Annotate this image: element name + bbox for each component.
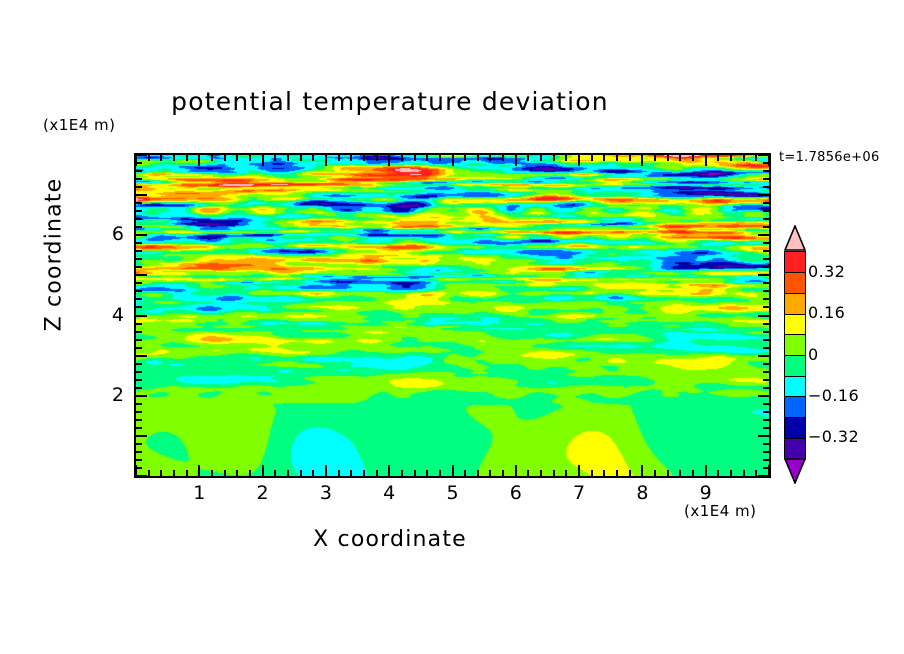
colorbar-band	[784, 292, 806, 314]
x-axis-unit-label: (x1E4 m)	[684, 502, 757, 520]
y-tick	[136, 403, 142, 405]
y-tick	[763, 226, 769, 228]
x-tick	[641, 155, 643, 166]
x-tick	[679, 470, 681, 476]
y-tick	[763, 306, 769, 308]
x-tick	[641, 465, 643, 476]
y-tick	[136, 186, 142, 188]
x-tick	[616, 470, 618, 476]
colorbar-tick-label: 0	[808, 345, 819, 364]
y-tick	[136, 202, 142, 204]
y-tick	[763, 411, 769, 413]
x-tick	[236, 470, 238, 476]
y-tick	[136, 154, 147, 156]
colorbar-band	[784, 272, 806, 294]
y-tick	[136, 467, 142, 469]
x-tick	[477, 470, 479, 476]
colorbar-band	[784, 355, 806, 377]
y-tick	[763, 451, 769, 453]
x-tick	[654, 470, 656, 476]
x-tick	[350, 155, 352, 161]
x-tick	[135, 155, 137, 166]
y-tick	[136, 411, 142, 413]
x-tick	[325, 465, 327, 476]
x-tick	[312, 470, 314, 476]
x-tick	[363, 470, 365, 476]
colorbar-band	[784, 396, 806, 418]
x-tick	[224, 470, 226, 476]
x-tick	[553, 470, 555, 476]
x-tick-label: 1	[184, 482, 214, 504]
y-tick	[136, 258, 142, 260]
x-tick	[186, 470, 188, 476]
x-tick	[363, 155, 365, 161]
x-tick	[477, 155, 479, 161]
y-tick	[758, 194, 769, 196]
y-tick	[136, 162, 142, 164]
y-axis-title: Z coordinate	[42, 175, 67, 335]
x-tick	[439, 155, 441, 161]
plot-area[interactable]	[134, 153, 771, 478]
x-tick	[325, 155, 327, 166]
x-tick	[692, 470, 694, 476]
x-tick	[730, 470, 732, 476]
y-tick	[136, 427, 142, 429]
x-tick	[489, 470, 491, 476]
y-tick	[763, 339, 769, 341]
x-tick	[565, 155, 567, 161]
x-tick	[287, 155, 289, 161]
x-tick	[439, 470, 441, 476]
x-tick	[768, 155, 770, 166]
y-tick	[136, 274, 147, 276]
x-tick	[249, 155, 251, 161]
y-tick	[136, 355, 147, 357]
colorbar-tick-label: 0.32	[808, 262, 845, 281]
x-tick	[502, 155, 504, 161]
y-tick	[763, 162, 769, 164]
y-tick	[763, 290, 769, 292]
x-tick	[452, 155, 454, 166]
colorbar-band	[784, 251, 806, 273]
x-tick-label: 2	[248, 482, 278, 504]
y-tick	[763, 363, 769, 365]
y-tick	[763, 202, 769, 204]
x-tick	[527, 155, 529, 161]
colorbar[interactable]: 0.320.160−0.16−0.32	[784, 225, 806, 484]
x-tick	[300, 470, 302, 476]
x-tick	[515, 155, 517, 166]
colorbar-tick-label: −0.32	[808, 427, 859, 446]
x-tick	[629, 155, 631, 161]
y-tick	[136, 371, 142, 373]
x-tick	[705, 155, 707, 166]
y-tick	[763, 419, 769, 421]
y-tick	[136, 266, 142, 268]
x-tick	[338, 155, 340, 161]
y-tick	[763, 250, 769, 252]
x-tick	[667, 470, 669, 476]
y-tick	[758, 355, 769, 357]
y-tick	[136, 459, 142, 461]
x-tick	[717, 155, 719, 161]
x-tick	[274, 155, 276, 161]
x-tick	[540, 470, 542, 476]
y-tick	[136, 226, 142, 228]
y-tick	[763, 242, 769, 244]
x-tick	[540, 155, 542, 161]
x-tick-label: 5	[438, 482, 468, 504]
x-tick	[401, 155, 403, 161]
x-tick	[717, 470, 719, 476]
y-tick	[136, 395, 147, 397]
x-tick	[667, 155, 669, 161]
y-tick	[763, 266, 769, 268]
x-tick	[262, 155, 264, 166]
x-tick	[401, 470, 403, 476]
y-tick	[763, 218, 769, 220]
x-tick	[338, 470, 340, 476]
y-tick	[136, 387, 142, 389]
x-tick	[730, 155, 732, 161]
x-tick	[262, 465, 264, 476]
page-title: potential temperature deviation	[0, 87, 780, 116]
x-tick	[388, 465, 390, 476]
x-tick-label: 3	[311, 482, 341, 504]
x-tick	[414, 155, 416, 161]
x-tick	[236, 155, 238, 161]
colorbar-tick-label: −0.16	[808, 386, 859, 405]
x-tick-label: 8	[627, 482, 657, 504]
x-tick	[211, 155, 213, 161]
x-tick	[591, 155, 593, 161]
y-tick-label: 2	[94, 384, 124, 406]
y-tick	[136, 290, 142, 292]
y-tick	[136, 282, 142, 284]
x-tick-label: 6	[501, 482, 531, 504]
y-tick	[136, 218, 142, 220]
x-tick	[148, 155, 150, 161]
y-tick	[136, 443, 142, 445]
y-tick	[763, 347, 769, 349]
colorbar-band	[784, 375, 806, 397]
y-tick	[763, 331, 769, 333]
x-tick	[743, 470, 745, 476]
y-tick	[763, 371, 769, 373]
x-tick	[502, 470, 504, 476]
x-tick	[565, 470, 567, 476]
colorbar-tick-label: 0.16	[808, 303, 845, 322]
x-tick	[186, 155, 188, 161]
x-tick	[173, 155, 175, 161]
y-tick	[136, 178, 142, 180]
x-tick	[160, 155, 162, 161]
y-tick	[136, 170, 142, 172]
y-tick	[136, 475, 147, 477]
x-tick	[489, 155, 491, 161]
colorbar-band	[784, 313, 806, 335]
x-tick	[515, 465, 517, 476]
x-tick-label: 4	[374, 482, 404, 504]
contour-figure: potential temperature deviation (x1E4 m)…	[0, 0, 904, 654]
y-tick	[763, 379, 769, 381]
y-tick	[136, 435, 147, 437]
y-tick	[758, 315, 769, 317]
x-tick	[452, 465, 454, 476]
y-tick	[763, 403, 769, 405]
x-tick	[376, 470, 378, 476]
x-tick	[224, 155, 226, 161]
y-tick	[136, 210, 142, 212]
x-tick	[148, 470, 150, 476]
y-tick	[136, 250, 142, 252]
x-tick	[198, 155, 200, 166]
x-tick	[591, 470, 593, 476]
y-tick	[763, 467, 769, 469]
colorbar-band	[784, 437, 806, 459]
y-tick	[763, 443, 769, 445]
x-tick	[414, 470, 416, 476]
y-tick	[763, 186, 769, 188]
y-tick	[136, 363, 142, 365]
y-tick-label: 6	[94, 223, 124, 245]
y-tick-label: 4	[94, 304, 124, 326]
y-tick	[136, 323, 142, 325]
x-tick	[350, 470, 352, 476]
y-tick	[136, 331, 142, 333]
y-tick	[758, 475, 769, 477]
y-tick	[763, 258, 769, 260]
x-tick	[553, 155, 555, 161]
y-tick	[763, 210, 769, 212]
x-tick	[705, 465, 707, 476]
colorbar-under-cap	[784, 458, 806, 484]
y-tick	[763, 387, 769, 389]
y-tick	[763, 298, 769, 300]
y-tick	[758, 154, 769, 156]
y-tick	[136, 194, 147, 196]
x-tick	[578, 465, 580, 476]
y-tick	[136, 451, 142, 453]
x-tick	[603, 155, 605, 161]
y-tick	[136, 315, 147, 317]
y-tick	[763, 282, 769, 284]
x-tick	[287, 470, 289, 476]
y-tick	[136, 298, 142, 300]
x-tick-label: 9	[691, 482, 721, 504]
x-tick-label: 7	[564, 482, 594, 504]
x-tick	[603, 470, 605, 476]
time-stamp-label: t=1.7856e+06	[779, 150, 880, 165]
y-tick	[758, 395, 769, 397]
x-tick	[173, 470, 175, 476]
y-tick	[758, 435, 769, 437]
x-axis-title: X coordinate	[0, 527, 780, 552]
x-tick	[679, 155, 681, 161]
y-tick	[136, 242, 142, 244]
x-tick	[464, 470, 466, 476]
x-tick	[274, 470, 276, 476]
colorbar-band	[784, 417, 806, 439]
x-tick	[300, 155, 302, 161]
x-tick	[578, 155, 580, 166]
x-tick	[249, 470, 251, 476]
x-tick	[743, 155, 745, 161]
x-tick	[692, 155, 694, 161]
colorbar-over-cap	[784, 225, 806, 251]
x-tick	[527, 470, 529, 476]
x-tick	[464, 155, 466, 161]
y-tick	[136, 419, 142, 421]
x-tick	[376, 155, 378, 161]
x-tick	[654, 155, 656, 161]
x-tick	[160, 470, 162, 476]
y-tick	[763, 323, 769, 325]
x-tick	[426, 470, 428, 476]
y-tick	[136, 339, 142, 341]
y-tick	[136, 347, 142, 349]
x-tick	[426, 155, 428, 161]
colorbar-band	[784, 334, 806, 356]
y-tick	[136, 379, 142, 381]
x-tick	[198, 465, 200, 476]
y-tick	[763, 427, 769, 429]
y-tick	[758, 234, 769, 236]
y-tick	[763, 459, 769, 461]
x-tick	[211, 470, 213, 476]
y-tick	[763, 170, 769, 172]
contour-field	[136, 155, 769, 476]
y-tick	[763, 178, 769, 180]
x-tick	[388, 155, 390, 166]
y-tick	[136, 234, 147, 236]
y-tick	[758, 274, 769, 276]
y-tick	[136, 306, 142, 308]
x-tick	[629, 470, 631, 476]
y-axis-unit-label: (x1E4 m)	[43, 116, 116, 134]
x-tick	[312, 155, 314, 161]
x-tick	[616, 155, 618, 161]
